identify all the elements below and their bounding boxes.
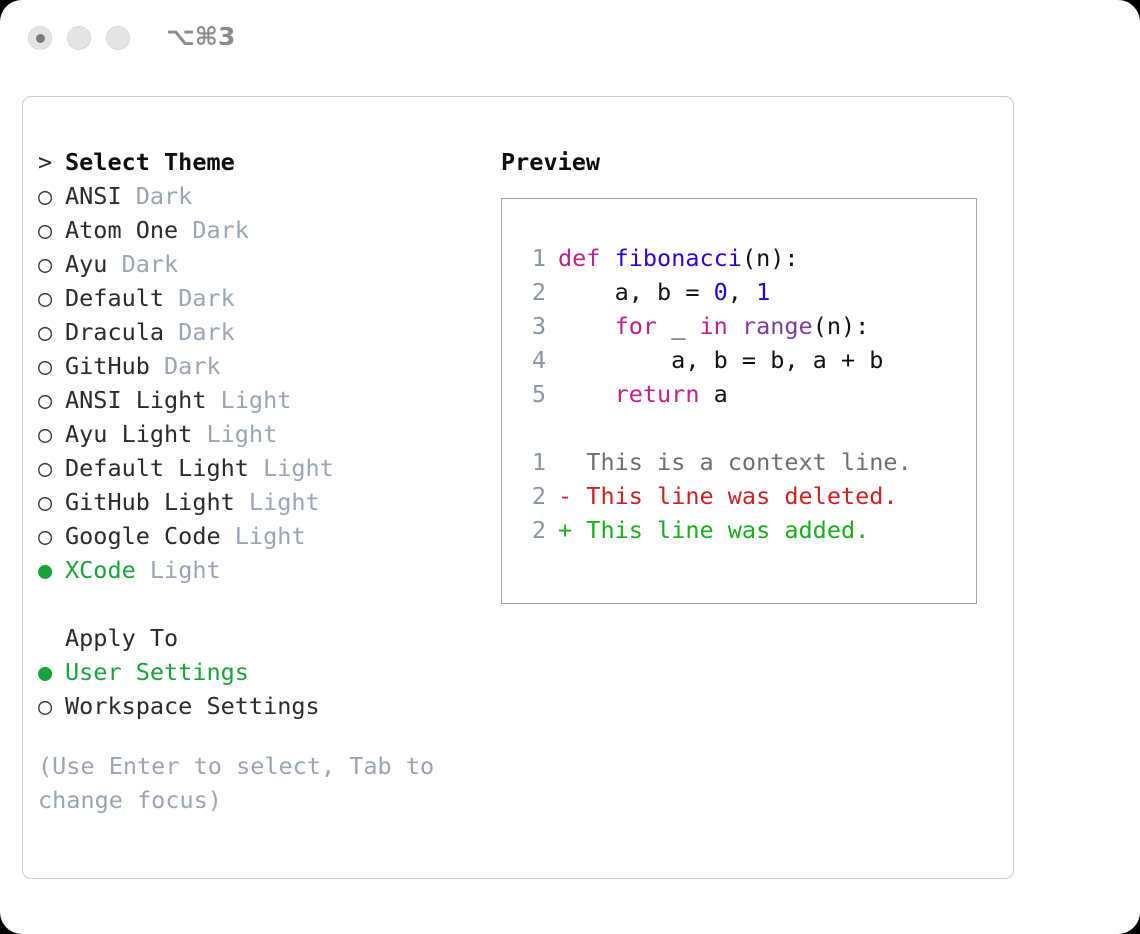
select-theme-heading-label: Select Theme: [65, 145, 235, 179]
diff-line-text: This line was deleted.: [572, 479, 897, 513]
keyboard-hint-text: (Use Enter to select, Tab to change focu…: [38, 749, 458, 817]
theme-options-list: ○ANSI Dark○Atom One Dark○Ayu Dark○Defaul…: [38, 179, 498, 587]
code-preview-box: 1def fibonacci(n):2 a, b = 0, 13 for _ i…: [501, 198, 977, 604]
theme-list-item[interactable]: ○Atom One Dark: [38, 213, 498, 247]
code-line-number: 5: [518, 377, 558, 411]
diff-line-text: This line was added.: [572, 513, 869, 547]
theme-name-label: Atom One: [65, 213, 178, 247]
radio-unselected-icon[interactable]: ○: [38, 417, 65, 451]
theme-list-item[interactable]: ○Google Code Light: [38, 519, 498, 553]
preview-heading-label: Preview: [501, 145, 1001, 179]
theme-name-label: Dracula: [65, 315, 164, 349]
code-token: [558, 312, 615, 340]
theme-name-label: Ayu Light: [65, 417, 192, 451]
code-token: fibonacci: [615, 244, 742, 272]
prompt-caret-icon: >: [38, 145, 65, 179]
apply-to-option[interactable]: ●User Settings: [38, 655, 498, 689]
diff-line: 2+ This line was added.: [518, 513, 976, 547]
code-diff-spacer: [518, 411, 976, 445]
theme-variant-label: Dark: [107, 247, 178, 281]
theme-picker-panel: >Select Theme ○ANSI Dark○Atom One Dark○A…: [22, 96, 1014, 879]
code-token: _: [657, 312, 699, 340]
radio-unselected-icon[interactable]: ○: [38, 315, 65, 349]
code-line-number: 2: [518, 275, 558, 309]
code-token: def: [558, 244, 600, 272]
close-window-icon[interactable]: [28, 26, 52, 50]
apply-to-indent-spacer: •: [38, 621, 65, 655]
code-token: (n):: [813, 312, 870, 340]
code-line: 1def fibonacci(n):: [518, 241, 976, 275]
maximize-window-icon[interactable]: [106, 26, 130, 50]
diff-sample-lines: 1 This is a context line.2- This line wa…: [518, 445, 976, 547]
theme-list-item[interactable]: ○GitHub Light Light: [38, 485, 498, 519]
diff-sign-marker: -: [558, 479, 572, 513]
theme-name-label: ANSI: [65, 179, 122, 213]
code-line-content: a, b = 0, 1: [558, 275, 770, 309]
theme-list-item[interactable]: ○ANSI Dark: [38, 179, 498, 213]
code-token: 1: [756, 278, 770, 306]
radio-unselected-icon[interactable]: ○: [38, 485, 65, 519]
code-token: [600, 244, 614, 272]
code-line: 5 return a: [518, 377, 976, 411]
code-line: 3 for _ in range(n):: [518, 309, 976, 343]
theme-list-item[interactable]: ○Dracula Dark: [38, 315, 498, 349]
theme-list-item[interactable]: ●XCode Light: [38, 553, 498, 587]
theme-variant-label: Dark: [178, 213, 249, 247]
code-line-content: a, b = b, a + b: [558, 343, 883, 377]
code-line-content: for _ in range(n):: [558, 309, 869, 343]
diff-line-number: 2: [518, 513, 558, 547]
code-token: return: [615, 380, 700, 408]
apply-to-heading-label: Apply To: [65, 621, 178, 655]
diff-sign-marker: [558, 445, 572, 479]
theme-list-item[interactable]: ○Ayu Light Light: [38, 417, 498, 451]
theme-variant-label: Light: [192, 417, 277, 451]
theme-name-label: XCode: [65, 553, 136, 587]
code-token: [558, 380, 615, 408]
theme-variant-label: Light: [221, 519, 306, 553]
theme-variant-label: Dark: [164, 315, 235, 349]
radio-unselected-icon[interactable]: ○: [38, 519, 65, 553]
theme-list-item[interactable]: ○Default Light Light: [38, 451, 498, 485]
radio-unselected-icon[interactable]: ○: [38, 689, 65, 723]
theme-name-label: Default: [65, 281, 164, 315]
diff-line: 1 This is a context line.: [518, 445, 976, 479]
radio-unselected-icon[interactable]: ○: [38, 281, 65, 315]
apply-to-option-label: Workspace Settings: [65, 689, 320, 723]
code-line-number: 4: [518, 343, 558, 377]
theme-variant-label: Dark: [122, 179, 193, 213]
radio-unselected-icon[interactable]: ○: [38, 349, 65, 383]
apply-to-heading: •Apply To: [38, 621, 498, 655]
theme-name-label: Ayu: [65, 247, 107, 281]
apply-to-options-list: ●User Settings○Workspace Settings: [38, 655, 498, 723]
window-titlebar: ⌥⌘3: [0, 0, 1140, 78]
radio-selected-icon[interactable]: ●: [38, 553, 65, 587]
theme-variant-label: Light: [235, 485, 320, 519]
window-title: ⌥⌘3: [166, 22, 235, 51]
theme-list-item[interactable]: ○GitHub Dark: [38, 349, 498, 383]
code-token: range: [742, 312, 813, 340]
section-spacer: [38, 587, 498, 621]
code-token: a: [699, 380, 727, 408]
theme-list-item[interactable]: ○Default Dark: [38, 281, 498, 315]
theme-name-label: Default Light: [65, 451, 249, 485]
radio-unselected-icon[interactable]: ○: [38, 383, 65, 417]
radio-unselected-icon[interactable]: ○: [38, 213, 65, 247]
theme-variant-label: Dark: [150, 349, 221, 383]
code-line-content: return a: [558, 377, 728, 411]
code-token: ,: [728, 278, 756, 306]
code-line-content: def fibonacci(n):: [558, 241, 799, 275]
code-token: [728, 312, 742, 340]
radio-selected-icon[interactable]: ●: [38, 655, 65, 689]
theme-list-item[interactable]: ○ANSI Light Light: [38, 383, 498, 417]
diff-line-number: 1: [518, 445, 558, 479]
code-sample-lines: 1def fibonacci(n):2 a, b = 0, 13 for _ i…: [518, 241, 976, 411]
active-indicator-dot: [36, 34, 45, 43]
theme-name-label: GitHub Light: [65, 485, 235, 519]
code-token: for: [615, 312, 657, 340]
apply-to-option[interactable]: ○Workspace Settings: [38, 689, 498, 723]
diff-line-text: This is a context line.: [572, 445, 912, 479]
code-line-number: 1: [518, 241, 558, 275]
theme-list-item[interactable]: ○Ayu Dark: [38, 247, 498, 281]
code-line: 4 a, b = b, a + b: [518, 343, 976, 377]
code-line: 2 a, b = 0, 1: [518, 275, 976, 309]
minimize-window-icon[interactable]: [67, 26, 91, 50]
diff-line-number: 2: [518, 479, 558, 513]
theme-name-label: GitHub: [65, 349, 150, 383]
theme-name-label: Google Code: [65, 519, 221, 553]
code-token: in: [700, 312, 728, 340]
diff-sign-marker: +: [558, 513, 572, 547]
code-token: (n):: [742, 244, 799, 272]
traffic-light-buttons: [28, 26, 130, 50]
theme-variant-label: Light: [136, 553, 221, 587]
diff-line: 2- This line was deleted.: [518, 479, 976, 513]
theme-variant-label: Light: [249, 451, 334, 485]
radio-unselected-icon[interactable]: ○: [38, 247, 65, 281]
code-token: a, b = b, a + b: [558, 346, 883, 374]
theme-variant-label: Light: [206, 383, 291, 417]
preview-column: Preview 1def fibonacci(n):2 a, b = 0, 13…: [501, 145, 1001, 604]
apply-to-option-label: User Settings: [65, 655, 249, 689]
code-line-number: 3: [518, 309, 558, 343]
radio-unselected-icon[interactable]: ○: [38, 451, 65, 485]
code-token: a, b =: [558, 278, 714, 306]
theme-variant-label: Dark: [164, 281, 235, 315]
radio-unselected-icon[interactable]: ○: [38, 179, 65, 213]
theme-list-column: >Select Theme ○ANSI Dark○Atom One Dark○A…: [38, 145, 498, 817]
code-token: 0: [714, 278, 728, 306]
terminal-window: ⌥⌘3 >Select Theme ○ANSI Dark○Atom One Da…: [0, 0, 1140, 934]
select-theme-heading: >Select Theme: [38, 145, 498, 179]
theme-name-label: ANSI Light: [65, 383, 206, 417]
